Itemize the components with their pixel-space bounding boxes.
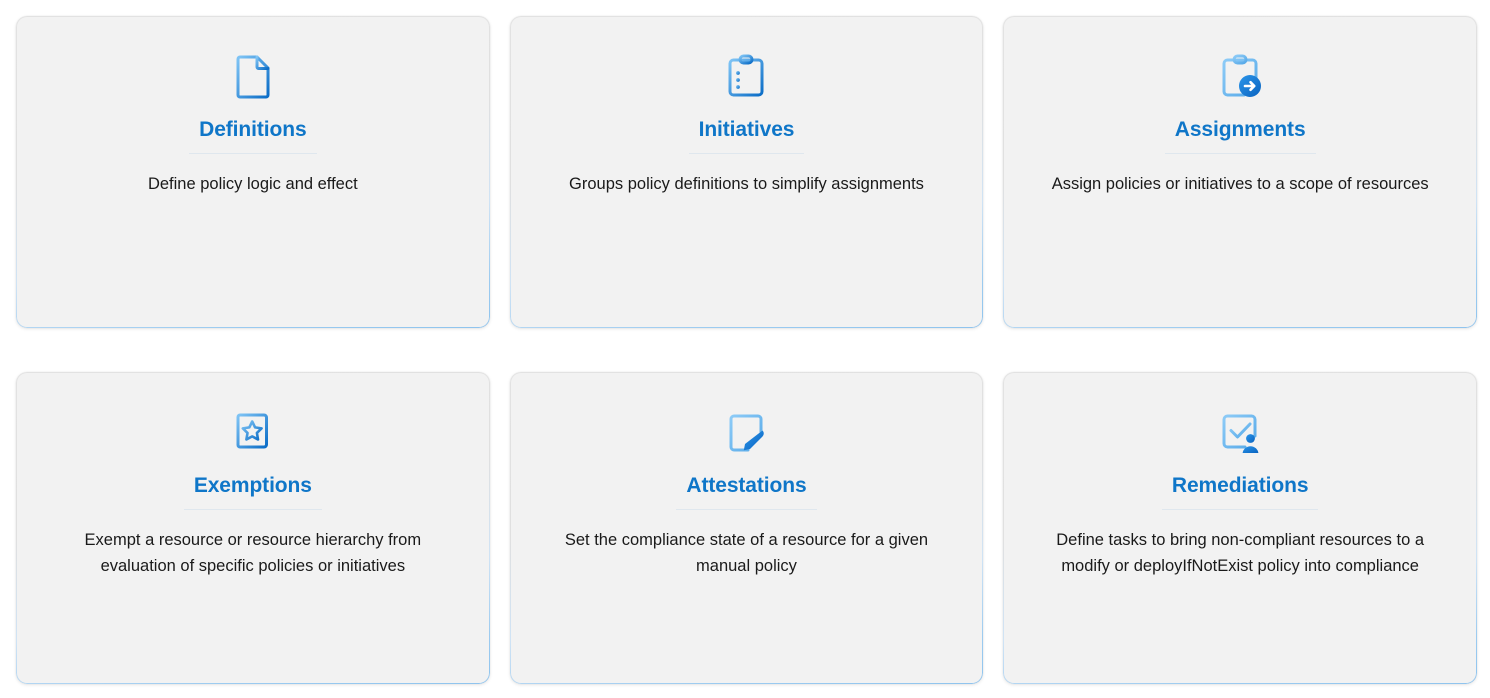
- card-title: Assignments: [1175, 118, 1306, 154]
- card-description: Define policy logic and effect: [148, 171, 358, 197]
- card-description: Exempt a resource or resource hierarchy …: [48, 527, 458, 579]
- card-attestations[interactable]: Attestations Set the compliance state of…: [510, 372, 984, 684]
- card-definitions[interactable]: Definitions Define policy logic and effe…: [16, 16, 490, 328]
- clipboard-arrow-icon: [1212, 48, 1268, 104]
- card-description: Define tasks to bring non-compliant reso…: [1035, 527, 1445, 579]
- card-title: Remediations: [1172, 474, 1309, 510]
- card-title: Initiatives: [699, 118, 795, 154]
- clipboard-list-icon: [718, 48, 774, 104]
- notepad-pencil-icon: [718, 404, 774, 460]
- card-initiatives[interactable]: Initiatives Groups policy definitions to…: [510, 16, 984, 328]
- card-description: Set the compliance state of a resource f…: [541, 527, 951, 579]
- card-remediations[interactable]: Remediations Define tasks to bring non-c…: [1003, 372, 1477, 684]
- book-star-icon: [225, 404, 281, 460]
- card-description: Assign policies or initiatives to a scop…: [1052, 171, 1429, 197]
- policy-card-grid: Definitions Define policy logic and effe…: [0, 0, 1490, 698]
- card-title: Attestations: [686, 474, 806, 510]
- document-icon: [225, 48, 281, 104]
- card-title: Definitions: [199, 118, 306, 154]
- card-description: Groups policy definitions to simplify as…: [569, 171, 924, 197]
- card-assignments[interactable]: Assignments Assign policies or initiativ…: [1003, 16, 1477, 328]
- card-title: Exemptions: [194, 474, 312, 510]
- checkbox-person-icon: [1212, 404, 1268, 460]
- card-exemptions[interactable]: Exemptions Exempt a resource or resource…: [16, 372, 490, 684]
